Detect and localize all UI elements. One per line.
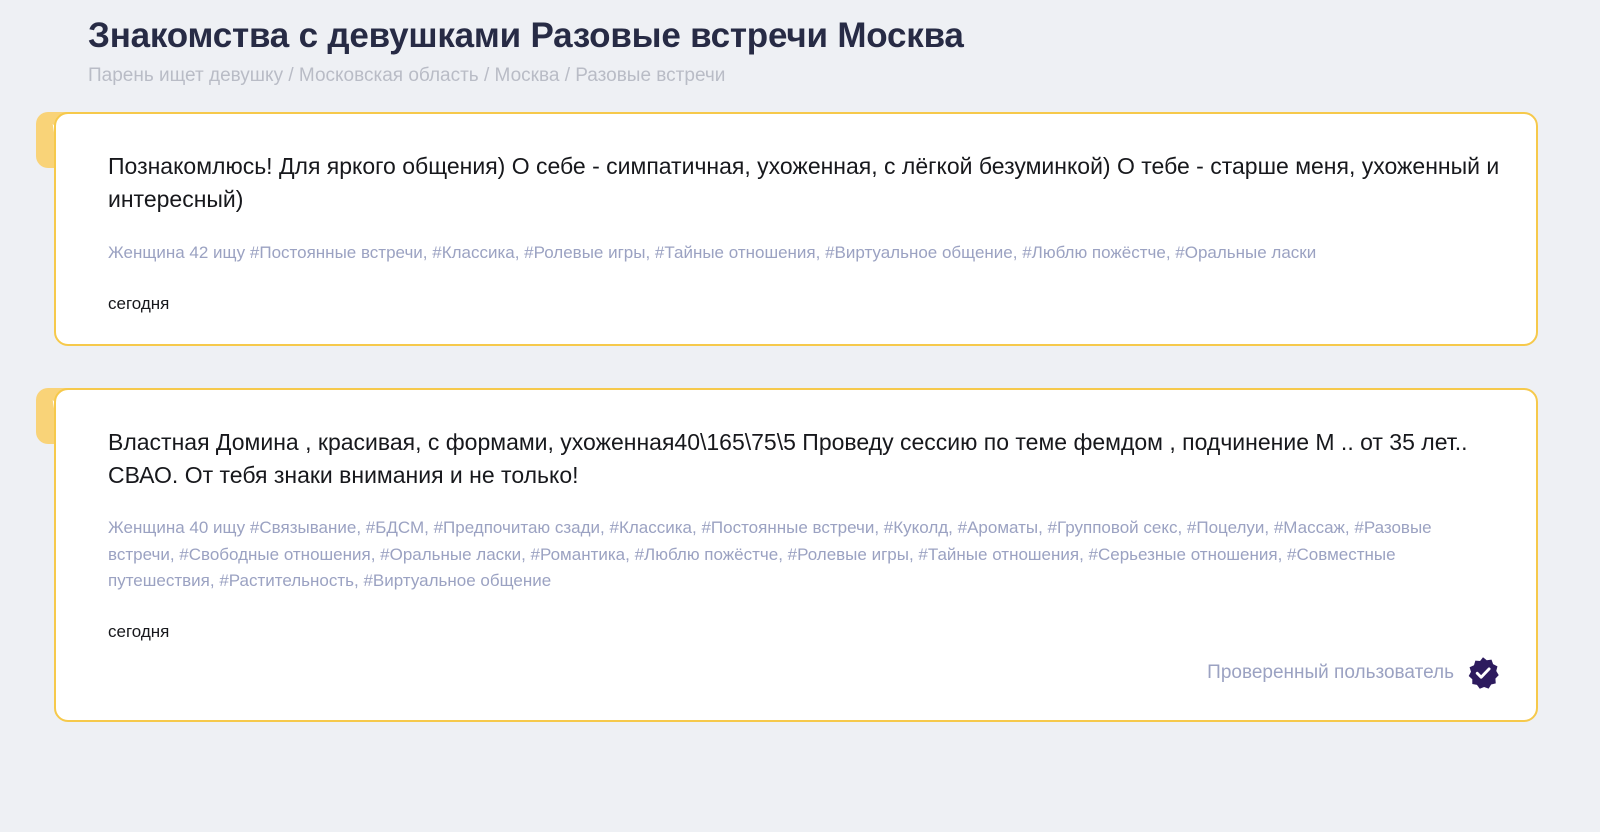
page-header: Знакомства с девушками Разовые встречи М… (0, 0, 1600, 88)
listing-date: сегодня (108, 622, 1502, 642)
listing-tags: Женщина 42 ищу #Постоянные встречи, #Кла… (108, 240, 1502, 266)
listing-card[interactable]: Властная Домина , красивая, с формами, у… (54, 388, 1538, 722)
page-root: Знакомства с девушками Разовые встречи М… (0, 0, 1600, 832)
listing-tags: Женщина 40 ищу #Связывание, #БДСМ, #Пред… (108, 515, 1502, 594)
listing-card-list: Познакомлюсь! Для яркого общения) О себе… (0, 112, 1600, 722)
verified-user-row: Проверенный пользователь (108, 656, 1502, 690)
listing-card-wrapper: Властная Домина , красивая, с формами, у… (36, 388, 1538, 722)
verified-user-label: Проверенный пользователь (1207, 662, 1454, 684)
verified-check-icon (1466, 656, 1500, 690)
listing-description: Властная Домина , красивая, с формами, у… (108, 426, 1502, 491)
listing-description: Познакомлюсь! Для яркого общения) О себе… (108, 150, 1502, 215)
page-title: Знакомства с девушками Разовые встречи М… (88, 14, 1600, 58)
listing-card-wrapper: Познакомлюсь! Для яркого общения) О себе… (36, 112, 1538, 346)
breadcrumb[interactable]: Парень ищет девушку / Московская область… (88, 64, 1600, 89)
listing-date: сегодня (108, 294, 1502, 314)
listing-card[interactable]: Познакомлюсь! Для яркого общения) О себе… (54, 112, 1538, 346)
